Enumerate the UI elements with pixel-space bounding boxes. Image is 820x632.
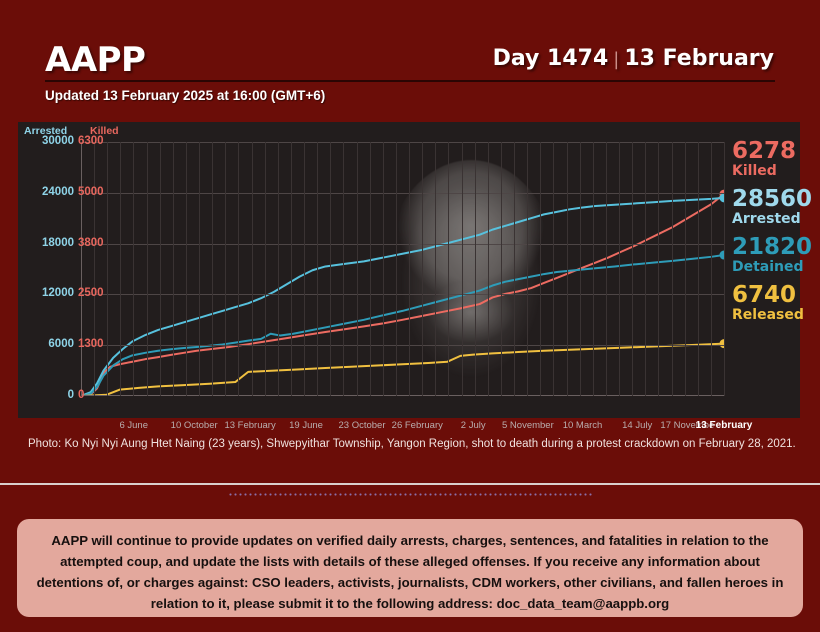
updated-timestamp: Updated 13 February 2025 at 16:00 (GMT+6… — [45, 88, 325, 103]
gridline-vertical — [160, 142, 161, 396]
gridline-vertical — [711, 142, 712, 396]
infographic-page: AAPP Day 1474|13 February Updated 13 Feb… — [0, 0, 820, 632]
gridline-vertical — [409, 142, 410, 396]
legend-label-killed: Killed — [732, 163, 796, 179]
gridline-vertical — [238, 142, 239, 396]
gridline-vertical — [658, 142, 659, 396]
gridline-vertical — [672, 142, 673, 396]
x-tick-label: 10 October — [171, 420, 218, 431]
x-tick-label: 10 March — [563, 420, 603, 431]
series-line-arrested — [81, 198, 724, 396]
gridline-vertical — [343, 142, 344, 396]
gridline-horizontal — [81, 142, 724, 143]
gridline-horizontal — [81, 294, 724, 295]
gridline-vertical — [107, 142, 108, 396]
gridline-vertical — [94, 142, 95, 396]
legend-value-arrested: 28560 — [732, 188, 796, 211]
dotted-divider — [228, 493, 592, 496]
gridline-vertical — [173, 142, 174, 396]
x-tick-label: 19 June — [289, 420, 323, 431]
gridline-vertical — [475, 142, 476, 396]
gridline-vertical — [212, 142, 213, 396]
day-separator: | — [608, 49, 624, 70]
gridline-vertical — [199, 142, 200, 396]
brand-title: AAPP — [45, 40, 145, 80]
gridline-vertical — [383, 142, 384, 396]
chart-panel: Arrested Killed 6 June10 October13 Febru… — [18, 122, 800, 418]
header-divider — [45, 80, 775, 82]
legend-item-released: 6740 Released — [732, 284, 796, 323]
gridline-vertical — [435, 142, 436, 396]
gridline-vertical — [252, 142, 253, 396]
chart-plot-area: 6 June10 October13 February19 June23 Oct… — [81, 142, 724, 396]
gridline-vertical — [593, 142, 594, 396]
gridline-vertical — [147, 142, 148, 396]
y-tick-killed: 0 — [78, 389, 114, 401]
x-tick-label: 6 June — [119, 420, 148, 431]
x-axis-line — [81, 395, 724, 396]
gridline-vertical — [291, 142, 292, 396]
gridline-vertical — [619, 142, 620, 396]
gridline-vertical — [396, 142, 397, 396]
y-tick-arrested: 24000 — [20, 186, 74, 198]
x-tick-label: 23 October — [338, 420, 385, 431]
gridline-vertical — [527, 142, 528, 396]
y-tick-killed: 5000 — [78, 186, 114, 198]
x-tick-label: 26 February — [392, 420, 443, 431]
y-tick-arrested: 0 — [20, 389, 74, 401]
y-tick-killed: 3800 — [78, 237, 114, 249]
x-tick-label: 14 July — [622, 420, 652, 431]
gridline-vertical — [278, 142, 279, 396]
gridline-horizontal — [81, 345, 724, 346]
photo-caption: Photo: Ko Nyi Nyi Aung Htet Naing (23 ye… — [28, 438, 796, 450]
y-axis-line — [81, 142, 82, 396]
legend-label-released: Released — [732, 307, 796, 323]
gridline-horizontal — [81, 193, 724, 194]
gridline-vertical — [265, 142, 266, 396]
header: AAPP Day 1474|13 February Updated 13 Feb… — [0, 0, 820, 118]
gridline-vertical — [553, 142, 554, 396]
gridline-vertical — [540, 142, 541, 396]
gridline-vertical — [304, 142, 305, 396]
gridline-vertical — [462, 142, 463, 396]
gridline-vertical — [357, 142, 358, 396]
day-counter: Day 1474|13 February — [493, 46, 774, 71]
legend-value-killed: 6278 — [732, 140, 796, 163]
series-line-released — [81, 344, 724, 396]
gridline-vertical — [632, 142, 633, 396]
legend-label-detained: Detained — [732, 259, 796, 275]
series-line-detained — [81, 255, 724, 396]
gridline-vertical — [501, 142, 502, 396]
y-tick-arrested: 30000 — [20, 135, 74, 147]
y-tick-killed: 1300 — [78, 338, 114, 350]
gridline-vertical — [225, 142, 226, 396]
gridline-vertical — [448, 142, 449, 396]
legend-item-killed: 6278 Killed — [732, 140, 796, 179]
legend-item-detained: 21820 Detained — [732, 236, 796, 275]
legend-item-arrested: 28560 Arrested — [732, 188, 796, 227]
header-date-label: 13 February — [624, 46, 774, 71]
gridline-vertical — [580, 142, 581, 396]
gridline-vertical — [370, 142, 371, 396]
gridline-vertical — [317, 142, 318, 396]
gridline-horizontal — [81, 244, 724, 245]
gridline-vertical — [514, 142, 515, 396]
y-tick-killed: 6300 — [78, 135, 114, 147]
gridline-vertical — [724, 142, 725, 396]
gridline-vertical — [645, 142, 646, 396]
x-tick-label: 2 July — [461, 420, 486, 431]
legend-value-detained: 21820 — [732, 236, 796, 259]
gridline-vertical — [685, 142, 686, 396]
gridline-vertical — [330, 142, 331, 396]
gridline-vertical — [488, 142, 489, 396]
gridline-vertical — [120, 142, 121, 396]
y-tick-arrested: 6000 — [20, 338, 74, 350]
gridline-vertical — [186, 142, 187, 396]
legend-label-arrested: Arrested — [732, 211, 796, 227]
chart-legend: 6278 Killed 28560 Arrested 21820 Detaine… — [732, 140, 796, 332]
gridline-vertical — [422, 142, 423, 396]
y-tick-arrested: 18000 — [20, 237, 74, 249]
chart-series-lines — [81, 142, 724, 396]
x-tick-label: 5 November — [502, 420, 554, 431]
gridline-vertical — [133, 142, 134, 396]
gridline-vertical — [567, 142, 568, 396]
y-tick-killed: 2500 — [78, 287, 114, 299]
gridline-vertical — [606, 142, 607, 396]
x-tick-label: 13 February — [696, 420, 753, 431]
x-tick-label: 13 February — [224, 420, 275, 431]
day-label: Day 1474 — [493, 46, 609, 71]
legend-value-released: 6740 — [732, 284, 796, 307]
gridline-vertical — [698, 142, 699, 396]
notice-panel: AAPP will continue to provide updates on… — [17, 519, 803, 617]
notice-text: AAPP will continue to provide updates on… — [33, 531, 787, 614]
y-tick-arrested: 12000 — [20, 287, 74, 299]
section-divider — [0, 483, 820, 485]
